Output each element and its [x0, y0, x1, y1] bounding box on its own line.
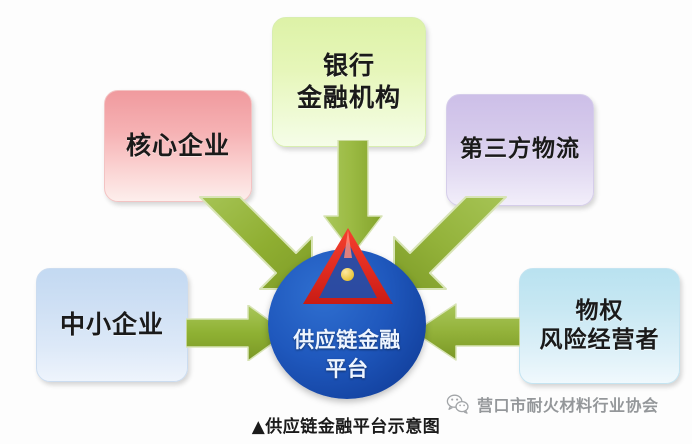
node-core-enterprise[interactable]: 核心企业: [104, 90, 252, 202]
diagram-canvas: 核心企业 银行 金融机构 第三方物流 中小企业 物权 风险经营者 供应链金融 平…: [0, 0, 692, 444]
yellow-dot-icon: [341, 268, 354, 281]
node-third-party-logistics-label: 第三方物流: [460, 135, 580, 164]
watermark: 营口市耐火材料行业协会: [446, 392, 659, 416]
node-risk-label-line1: 物权: [576, 297, 624, 326]
platform-label-line1: 供应链金融: [293, 326, 401, 354]
platform-label-line2: 平台: [326, 355, 369, 383]
node-bank-financial-institution[interactable]: 银行 金融机构: [272, 17, 426, 147]
node-sme[interactable]: 中小企业: [36, 268, 188, 382]
watermark-text: 营口市耐火材料行业协会: [477, 392, 659, 416]
node-property-rights-risk-operator[interactable]: 物权 风险经营者: [519, 268, 680, 384]
node-bank-label-line2: 金融机构: [297, 82, 401, 114]
node-core-enterprise-label: 核心企业: [126, 130, 230, 162]
node-sme-label: 中小企业: [60, 309, 164, 341]
arrow-risk-operator-to-platform: [412, 303, 520, 361]
node-bank-label-line1: 银行: [323, 50, 375, 82]
node-risk-label-line2: 风险经营者: [540, 326, 660, 355]
wechat-icon: [446, 393, 470, 415]
arrow-bank-to-platform: [322, 140, 384, 256]
node-third-party-logistics[interactable]: 第三方物流: [446, 94, 594, 206]
